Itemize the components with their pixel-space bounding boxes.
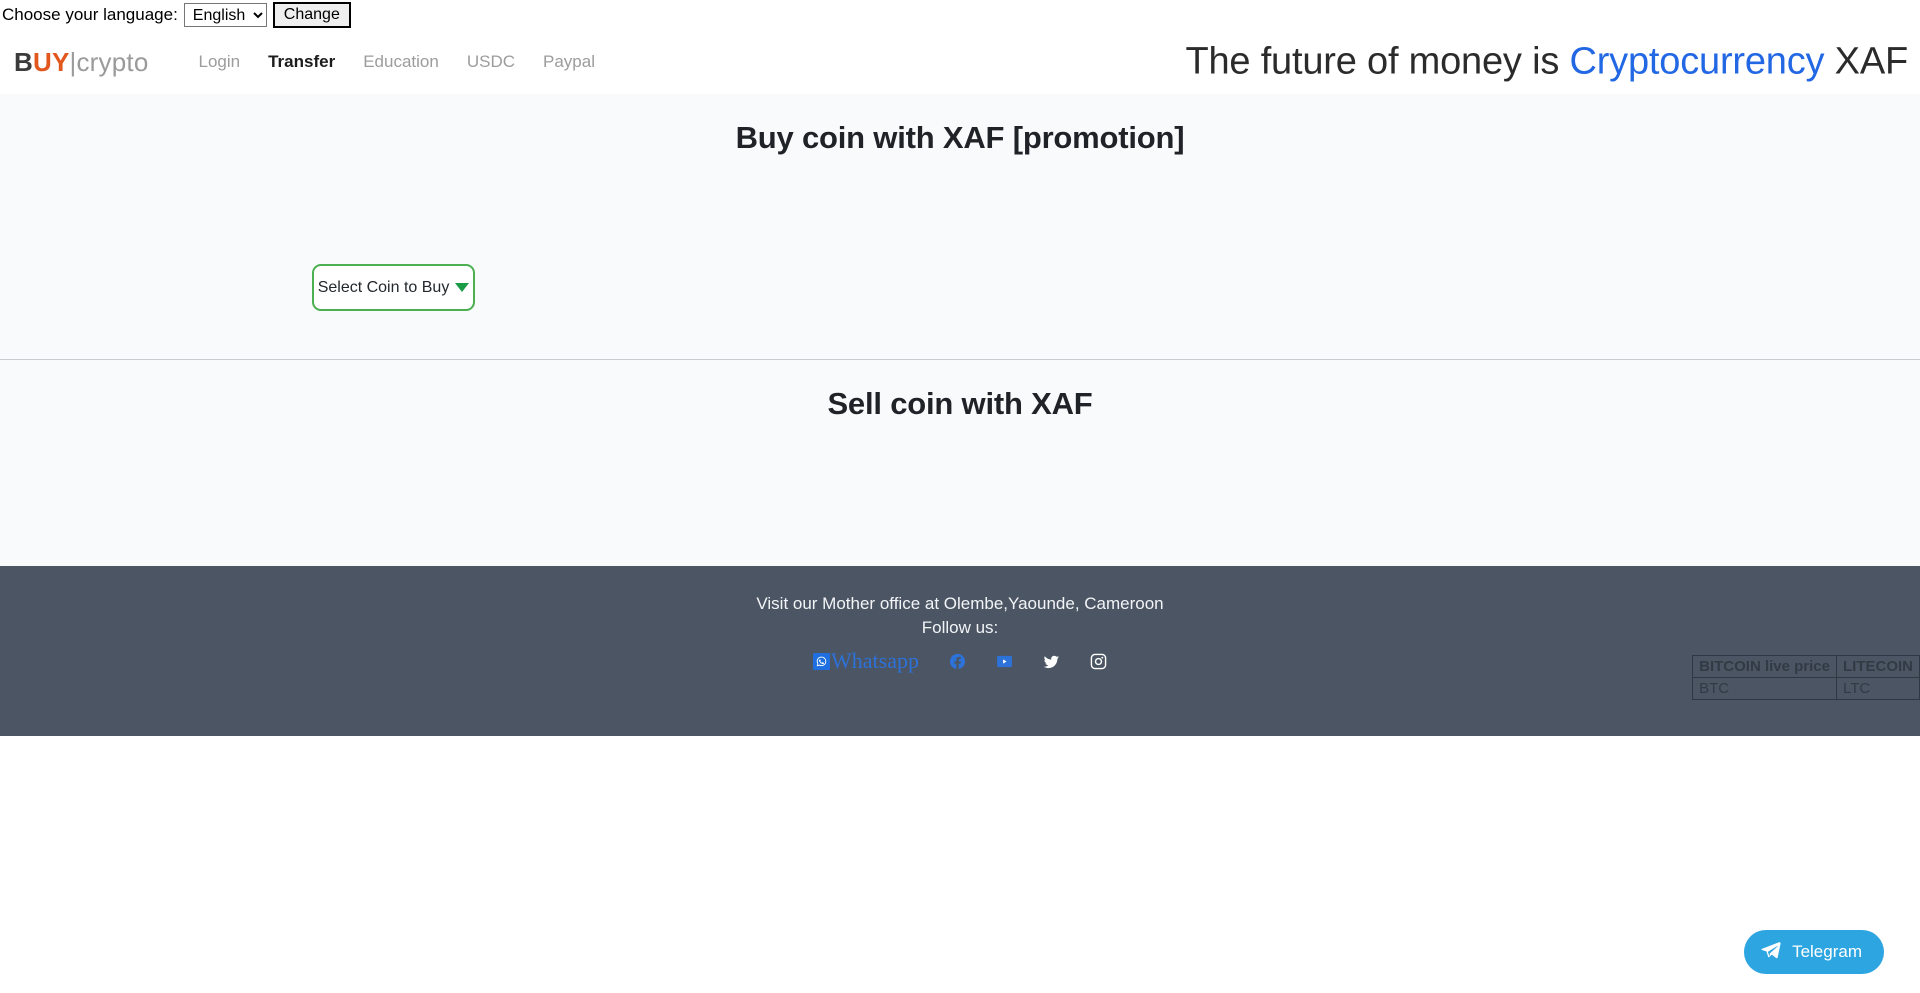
tagline-prefix: The future of money is bbox=[1185, 41, 1569, 83]
tagline-suffix: XAF bbox=[1824, 41, 1908, 83]
footer-address: Visit our Mother office at Olembe,Yaound… bbox=[0, 592, 1920, 616]
sell-section: Sell coin with XAF Select Coin to Sell S… bbox=[0, 360, 1920, 566]
nav-item-usdc[interactable]: USDC bbox=[467, 52, 515, 72]
nav-item-transfer[interactable]: Transfer bbox=[268, 52, 335, 72]
change-language-button[interactable]: Change bbox=[273, 2, 351, 28]
chevron-down-icon bbox=[455, 283, 469, 292]
twitter-link[interactable] bbox=[1043, 653, 1060, 670]
price-cell-btc: BTC bbox=[1693, 678, 1837, 700]
youtube-link[interactable] bbox=[996, 653, 1013, 670]
telegram-icon bbox=[1760, 939, 1782, 966]
nav-item-paypal[interactable]: Paypal bbox=[543, 52, 595, 72]
header-tagline: The future of money is Cryptocurrency XA… bbox=[1185, 41, 1908, 84]
facebook-icon bbox=[949, 653, 966, 670]
select-coin-to-buy-dropdown[interactable]: Select Coin to Buy bbox=[312, 264, 475, 311]
facebook-link[interactable] bbox=[949, 653, 966, 670]
language-label: Choose your language: bbox=[2, 5, 178, 25]
nav-item-education[interactable]: Education bbox=[363, 52, 439, 72]
brand-b: B bbox=[14, 47, 33, 77]
select-coin-to-buy-label: Select Coin to Buy bbox=[318, 279, 450, 297]
tagline-highlight: Cryptocurrency bbox=[1569, 41, 1824, 83]
price-header-bitcoin: BITCOIN live price bbox=[1693, 656, 1837, 678]
price-cell-ltc: LTC bbox=[1837, 678, 1920, 700]
sell-section-title: Sell coin with XAF bbox=[0, 360, 1920, 422]
buy-section: Buy coin with XAF [promotion] Select Coi… bbox=[0, 94, 1920, 359]
navbar: BUY|crypto Login Transfer Education USDC… bbox=[0, 30, 1920, 94]
brand-crypto: crypto bbox=[76, 47, 148, 77]
buy-section-title: Buy coin with XAF [promotion] bbox=[0, 94, 1920, 156]
telegram-float-button[interactable]: Telegram bbox=[1744, 930, 1884, 974]
footer: Visit our Mother office at Olembe,Yaound… bbox=[0, 566, 1920, 736]
footer-social-links: Whatsapp bbox=[0, 648, 1920, 674]
table-row: BTC LTC bbox=[1693, 678, 1920, 700]
brand-logo[interactable]: BUY|crypto bbox=[14, 47, 149, 78]
nav-item-login[interactable]: Login bbox=[199, 52, 241, 72]
whatsapp-icon bbox=[813, 653, 830, 670]
brand-uy: UY bbox=[33, 47, 70, 77]
table-header-row: BITCOIN live price LITECOIN bbox=[1693, 656, 1920, 678]
language-select[interactable]: English bbox=[184, 3, 267, 27]
footer-follow-label: Follow us: bbox=[0, 616, 1920, 640]
telegram-label: Telegram bbox=[1792, 942, 1862, 962]
page-body-blank-area: Telegram bbox=[0, 736, 1920, 993]
whatsapp-link[interactable]: Whatsapp bbox=[813, 648, 919, 674]
language-bar: Choose your language: English Change bbox=[0, 0, 1920, 30]
instagram-icon bbox=[1090, 653, 1107, 670]
whatsapp-label: Whatsapp bbox=[831, 648, 919, 674]
crypto-price-table: BITCOIN live price LITECOIN BTC LTC bbox=[1692, 655, 1920, 700]
price-header-litecoin: LITECOIN bbox=[1837, 656, 1920, 678]
instagram-link[interactable] bbox=[1090, 653, 1107, 670]
nav-links: Login Transfer Education USDC Paypal bbox=[199, 52, 595, 72]
twitter-icon bbox=[1043, 653, 1060, 670]
youtube-icon bbox=[996, 653, 1013, 670]
